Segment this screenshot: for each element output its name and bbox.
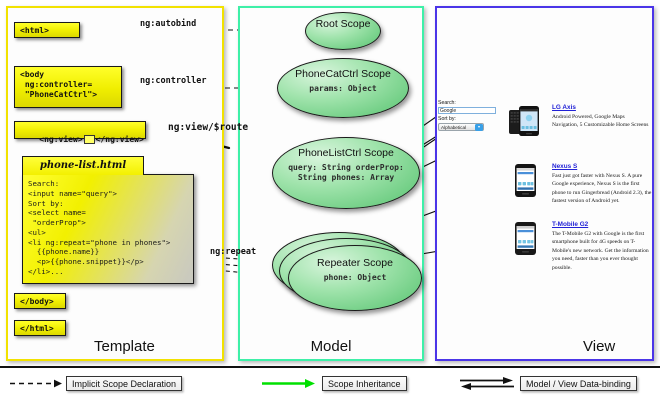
label-ng-controller: ng:controller [140, 76, 207, 86]
code-ngview: <ng:view></ng:view> [14, 121, 146, 139]
search-input[interactable] [438, 107, 496, 114]
green-arrow-icon [260, 376, 318, 391]
phone-snippet: The T-Mobile G2 with Google is the first… [552, 230, 652, 272]
callout-code-body: Search: <input name="query"> Sort by: <s… [22, 174, 194, 284]
scope-repeater-title: Repeater Scope [289, 258, 421, 270]
view-column-label: View [437, 338, 660, 355]
scope-phonelistctrl-props: query: String orderProp: String phones: … [273, 163, 419, 183]
scope-phonelistctrl: PhoneListCtrl Scope query: String orderP… [272, 137, 420, 209]
view-search-form: Search: Sort by: Alphabetical ▾ [438, 100, 500, 131]
phone-info: T-Mobile G2 The T-Mobile G2 with Google … [552, 221, 652, 272]
code-html-close: </html> [14, 320, 66, 336]
model-column-label: Model [240, 338, 422, 355]
dashed-arrow-icon [8, 376, 66, 391]
phone-thumbnail-lg-axis [508, 104, 542, 146]
legend-label: Implicit Scope Declaration [66, 376, 182, 391]
phone-snippet: Fast just got faster with Nexus S. A pur… [552, 172, 652, 206]
callout-title-tab: phone-list.html [22, 156, 144, 175]
scope-phonecatctrl: PhoneCatCtrl Scope params: Object [277, 58, 409, 118]
scope-phonecatctrl-title: PhoneCatCtrl Scope [278, 69, 408, 81]
scope-phonelistctrl-title: PhoneListCtrl Scope [273, 148, 419, 160]
scope-repeater: Repeater Scope phone: Object [288, 245, 422, 311]
ngview-close-tag: </ng:view> [96, 135, 144, 144]
scope-root-title: Root Scope [306, 19, 380, 31]
code-html-open: <html> [14, 22, 80, 38]
ngview-open-tag: <ng:view> [39, 135, 82, 144]
phone-info: LG Axis Android Powered, Google Maps Nav… [552, 104, 652, 130]
phone-name-link[interactable]: LG Axis [552, 104, 652, 111]
legend-label: Scope Inheritance [322, 376, 407, 391]
sort-select-value: Alphabetical [441, 125, 466, 130]
phone-info: Nexus S Fast just got faster with Nexus … [552, 163, 652, 206]
phone-thumbnail-t-mobile-g2 [508, 221, 542, 263]
chevron-down-icon: ▾ [475, 124, 483, 131]
sort-select[interactable]: Alphabetical ▾ [438, 123, 484, 131]
double-arrow-icon [458, 376, 516, 391]
label-ng-repeat: ng:repeat [210, 247, 256, 257]
phone-thumbnail-nexus-s [508, 163, 542, 205]
phone-name-link[interactable]: T-Mobile G2 [552, 221, 652, 228]
search-label: Search: [438, 100, 500, 106]
legend: Implicit Scope Declaration Scope Inherit… [0, 366, 660, 405]
ngview-slot-icon [84, 135, 95, 144]
legend-label: Model / View Data-binding [520, 376, 637, 391]
code-body-open: <body ng:controller= "PhoneCatCtrl"> [14, 66, 122, 108]
label-ng-view-route: ng:view/$route [168, 122, 248, 133]
scope-phonecatctrl-props: params: Object [278, 84, 408, 94]
code-body-close: </body> [14, 293, 66, 309]
callout-title: phone-list.html [23, 157, 143, 174]
label-ng-autobind: ng:autobind [140, 19, 196, 29]
phone-snippet: Android Powered, Google Maps Navigation,… [552, 113, 652, 130]
angular-mvc-diagram: Template <html> <body ng:controller= "Ph… [0, 0, 660, 405]
scope-root: Root Scope [305, 12, 381, 50]
phone-name-link[interactable]: Nexus S [552, 163, 652, 170]
scope-repeater-props: phone: Object [289, 273, 421, 283]
sort-label: Sort by: [438, 116, 500, 122]
